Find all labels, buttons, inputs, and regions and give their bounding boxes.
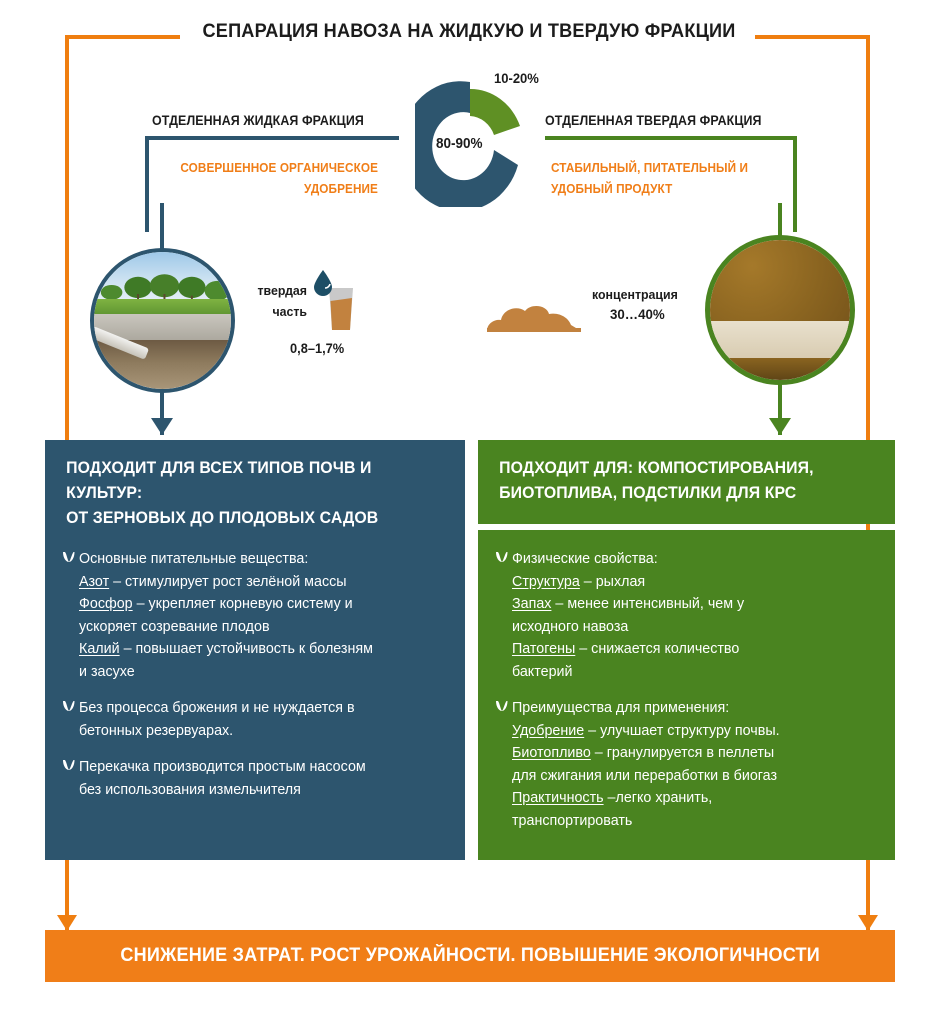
term: Удобрение	[512, 723, 584, 739]
list-item: Перекачка производится простым насосом б…	[59, 756, 447, 801]
left-section-label: ОТДЕЛЕННАЯ ЖИДКАЯ ФРАКЦИЯ	[152, 113, 364, 128]
water-drop-icon	[314, 270, 332, 296]
manure-pile-icon	[485, 297, 585, 333]
line: для сжигания или переработки в биогаз	[512, 765, 877, 788]
right-panel-header-line2: БИОТОПЛИВА, ПОДСТИЛКИ ДЛЯ КРС	[499, 481, 857, 506]
line: Структура – рыхлая	[512, 571, 877, 594]
term: Азот	[79, 574, 109, 590]
list-item: Физические свойства: Структура – рыхлая …	[492, 548, 877, 683]
donut-slice-solid	[470, 89, 520, 135]
leaf-bullet-icon	[59, 550, 79, 564]
line: Практичность –легко хранить,	[512, 787, 877, 810]
page-title: СЕПАРАЦИЯ НАВОЗА НА ЖИДКУЮ И ТВЕРДУЮ ФРА…	[33, 20, 905, 43]
photo-fiber-bottom	[710, 358, 850, 380]
line: Преимущества для применения:	[512, 697, 877, 720]
desc: – рыхлая	[580, 574, 645, 590]
left-panel-header-line2: ОТ ЗЕРНОВЫХ ДО ПЛОДОВЫХ САДОВ	[66, 506, 427, 531]
line: Азот – стимулирует рост зелёной массы	[79, 571, 447, 594]
right-panel-body-text: Физические свойства: Структура – рыхлая …	[478, 530, 895, 868]
line: Запах – менее интенсивный, чем у	[512, 593, 877, 616]
list-item: Без процесса брожения и не нуждается в б…	[59, 697, 447, 742]
list-item-text: Без процесса брожения и не нуждается в б…	[79, 697, 447, 742]
arrow-down-blue-icon	[151, 418, 173, 435]
leaf-bullet-icon	[59, 699, 79, 713]
right-stat-value: 30…40%	[610, 306, 665, 322]
desc: – снижается количество	[575, 641, 739, 657]
right-panel-header: ПОДХОДИТ ДЛЯ: КОМПОСТИРОВАНИЯ, БИОТОПЛИВ…	[478, 440, 895, 524]
bottom-banner: СНИЖЕНИЕ ЗАТРАТ. РОСТ УРОЖАЙНОСТИ. ПОВЫШ…	[45, 930, 895, 982]
photo-fiber-top	[710, 240, 850, 327]
bottom-banner-text: СНИЖЕНИЕ ЗАТРАТ. РОСТ УРОЖАЙНОСТИ. ПОВЫШ…	[120, 945, 820, 967]
desc: – стимулирует рост зелёной массы	[109, 574, 346, 590]
line: Физические свойства:	[512, 548, 877, 571]
desc: – укрепляет корневую систему и	[133, 596, 353, 612]
line: Фосфор – укрепляет корневую систему и	[79, 593, 447, 616]
donut-label-liquid: 80-90%	[436, 136, 482, 152]
desc: – улучшает структуру почвы.	[584, 723, 779, 739]
term: Фосфор	[79, 596, 133, 612]
left-panel-body: Основные питательные вещества: Азот – ст…	[45, 530, 465, 860]
desc: – повышает устойчивость к болезням	[120, 641, 373, 657]
arrow-down-orange-left-icon	[57, 915, 77, 931]
list-item: Основные питательные вещества: Азот – ст…	[59, 548, 447, 683]
line: Перекачка производится простым насосом	[79, 756, 447, 779]
pile-svg	[485, 297, 585, 333]
list-item-text: Преимущества для применения: Удобрение –…	[512, 697, 877, 832]
photo-fiber-middle	[710, 321, 850, 360]
right-sub-label-line1: СТАБИЛЬНЫЙ, ПИТАТЕЛЬНЫЙ И	[551, 158, 748, 179]
left-stat-label-line2: часть	[245, 301, 307, 322]
line: бетонных резервуарах.	[79, 720, 447, 743]
term: Практичность	[512, 790, 604, 806]
line: Биотопливо – гранулируется в пеллеты	[512, 742, 877, 765]
list-item: Преимущества для применения: Удобрение –…	[492, 697, 877, 832]
arrow-down-orange-right-icon	[858, 915, 878, 931]
liquid-fraction-photo	[90, 248, 235, 393]
line: Калий – повышает устойчивость к болезням	[79, 638, 447, 661]
glass-svg	[313, 268, 357, 334]
left-stat-value: 0,8–1,7%	[290, 341, 344, 356]
line: ускоряет созревание плодов	[79, 616, 447, 639]
leaf-bullet-icon	[59, 758, 79, 772]
right-stat-label: концентрация	[592, 284, 678, 306]
infographic-canvas: СЕПАРАЦИЯ НАВОЗА НА ЖИДКУЮ И ТВЕРДУЮ ФРА…	[0, 0, 938, 1014]
left-sub-label-line2: УДОБРЕНИЕ	[23, 179, 378, 200]
right-sub-label: СТАБИЛЬНЫЙ, ПИТАТЕЛЬНЫЙ И УДОБНЫЙ ПРОДУК…	[551, 158, 748, 200]
right-panel-header-line1: ПОДХОДИТ ДЛЯ: КОМПОСТИРОВАНИЯ,	[499, 456, 857, 481]
desc: – менее интенсивный, чем у	[551, 596, 744, 612]
left-panel-header-line1: ПОДХОДИТ ДЛЯ ВСЕХ ТИПОВ ПОЧВ И КУЛЬТУР:	[66, 456, 427, 506]
line: транспортировать	[512, 810, 877, 833]
term: Структура	[512, 574, 580, 590]
right-panel-header-text: ПОДХОДИТ ДЛЯ: КОМПОСТИРОВАНИЯ, БИОТОПЛИВ…	[478, 440, 878, 524]
left-connector-top	[160, 203, 164, 251]
list-item-text: Перекачка производится простым насосом б…	[79, 756, 447, 801]
left-sub-label: СОВЕРШЕННОЕ ОРГАНИЧЕСКОЕ УДОБРЕНИЕ	[23, 158, 378, 200]
line: Удобрение – улучшает структуру почвы.	[512, 720, 877, 743]
desc: – гранулируется в пеллеты	[591, 745, 774, 761]
right-panel-body: Физические свойства: Структура – рыхлая …	[478, 530, 895, 860]
left-panel-body-text: Основные питательные вещества: Азот – ст…	[45, 530, 465, 837]
line: без использования измельчителя	[79, 779, 447, 802]
line: Основные питательные вещества:	[79, 548, 447, 571]
glass-liquid-icon	[331, 298, 353, 330]
term: Калий	[79, 641, 120, 657]
line: исходного навоза	[512, 616, 877, 639]
term: Запах	[512, 596, 551, 612]
list-item-text: Физические свойства: Структура – рыхлая …	[512, 548, 877, 683]
line: Патогены – снижается количество	[512, 638, 877, 661]
arrow-down-green-icon	[769, 418, 791, 435]
list-item-text: Основные питательные вещества: Азот – ст…	[79, 548, 447, 683]
solid-fraction-photo	[705, 235, 855, 385]
left-stat-label-line1: твердая	[245, 280, 307, 301]
leaf-bullet-icon	[492, 699, 512, 713]
term: Патогены	[512, 641, 575, 657]
glass-with-drop-icon	[313, 268, 357, 334]
left-sub-label-line1: СОВЕРШЕННОЕ ОРГАНИЧЕСКОЕ	[23, 158, 378, 179]
line: бактерий	[512, 661, 877, 684]
line: и засухе	[79, 661, 447, 684]
desc: –легко хранить,	[604, 790, 713, 806]
right-sub-label-line2: УДОБНЫЙ ПРОДУКТ	[551, 179, 748, 200]
line: Без процесса брожения и не нуждается в	[79, 697, 447, 720]
right-section-label: ОТДЕЛЕННАЯ ТВЕРДАЯ ФРАКЦИЯ	[545, 113, 762, 128]
left-stat-label: твердая часть	[245, 280, 307, 322]
term: Биотопливо	[512, 745, 591, 761]
right-connector-top	[778, 203, 782, 239]
donut-label-solid: 10-20%	[494, 70, 539, 86]
leaf-bullet-icon	[492, 550, 512, 564]
